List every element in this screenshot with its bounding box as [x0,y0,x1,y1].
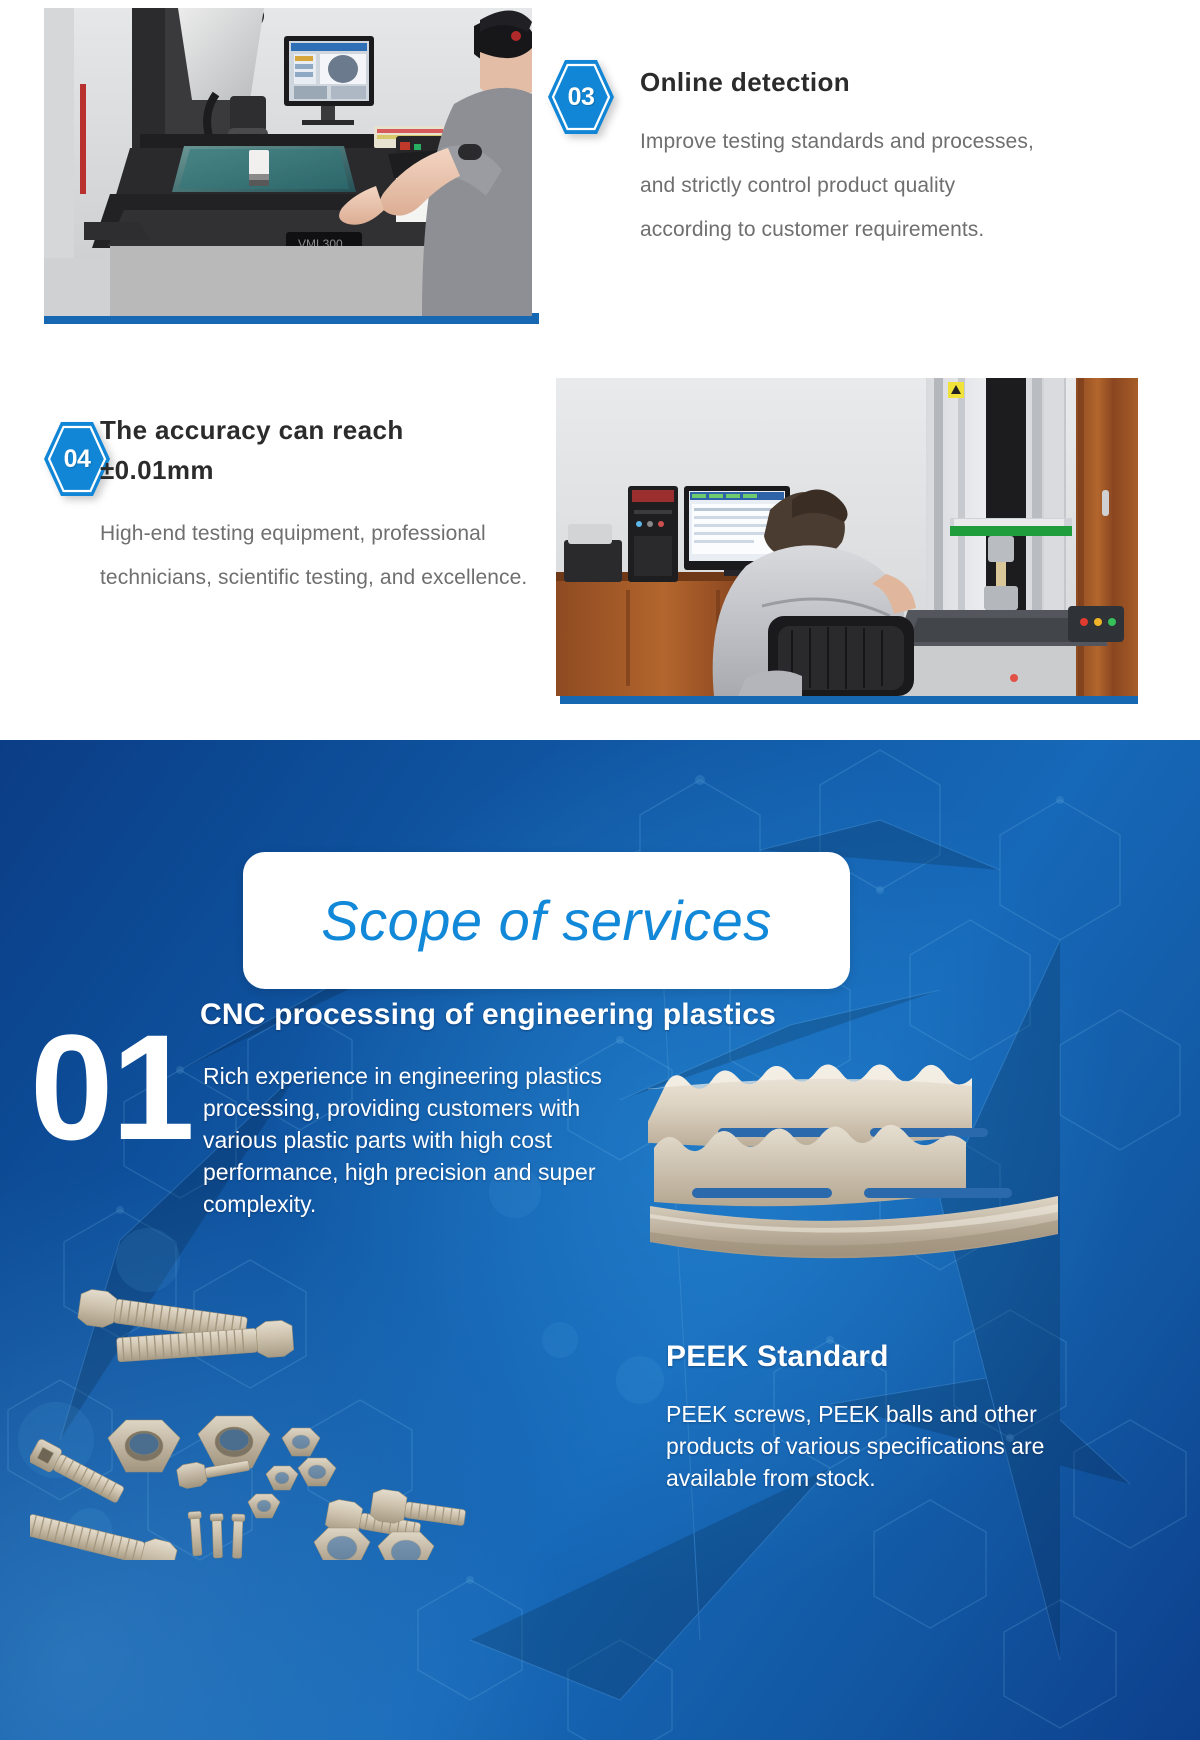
feature-body-03: Improve testing standards and processes,… [640,120,1040,252]
feature-text-03: Online detection Improve testing standar… [640,62,1040,252]
image-peek-screws-and-nuts [30,1270,500,1560]
feature-body-04: High-end testing equipment, professional… [100,512,540,600]
feature-text-04: The accuracy can reach ±0.01mm High-end … [100,410,540,600]
scope-heading: Scope of services [321,888,771,953]
photo-accuracy-testing [556,378,1138,696]
photo-online-detection: VML300 [44,8,532,316]
feature-badge-03: 03 [546,58,616,136]
features-section: VML300 [0,0,1200,740]
feature-title-04: The accuracy can reach ±0.01mm [100,410,480,490]
scope-title-card: Scope of services [243,852,850,989]
scope-item-body-02: PEEK screws, PEEK balls and other produc… [666,1398,1086,1494]
scope-item-title-01: CNC processing of engineering plastics [200,998,960,1032]
scope-of-services-section: Scope of services 01 CNC processing of e… [0,740,1200,1740]
feature-badge-03-number: 03 [546,58,616,136]
marketing-page: VML300 [0,0,1200,1740]
image-peek-chain-part [648,1036,1068,1266]
feature-title-03: Online detection [640,62,1040,102]
scope-item-number-01: 01 [30,1012,193,1162]
scope-item-title-02: PEEK Standard [666,1340,1146,1374]
scope-item-body-01: Rich experience in engineering plastics … [203,1060,633,1220]
